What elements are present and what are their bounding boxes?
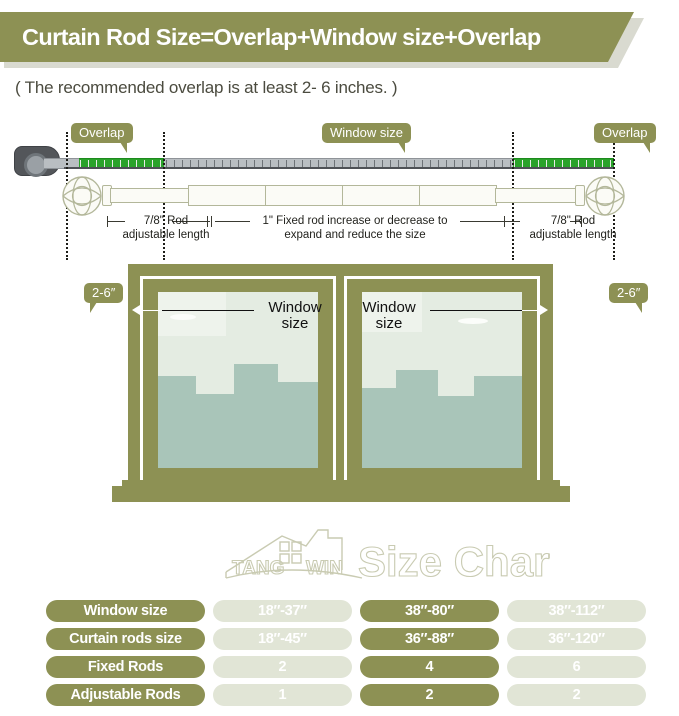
callout-tail [90, 302, 97, 313]
glass-building [396, 370, 438, 468]
rod-fixed-segment-1 [188, 185, 266, 206]
annotation-left-rod-line2: adjustable length [123, 229, 210, 241]
glass-building [438, 396, 474, 468]
callout-window-size: Window size [322, 123, 411, 143]
table-cell: 2 [507, 684, 646, 706]
table-cell: 1 [213, 684, 352, 706]
glass-building [278, 382, 318, 468]
dim-line [215, 221, 250, 222]
badge-overlap-right-label: 2-6″ [617, 285, 640, 300]
rod-finial-right-icon [583, 174, 627, 218]
annotation-center-rod-line1: 1" Fixed rod increase or decrease to [263, 215, 448, 227]
glass-cloud [458, 318, 488, 324]
rod-fixed-segment-4 [419, 185, 497, 206]
leader-line-right [430, 310, 522, 311]
page-title: Curtain Rod Size=Overlap+Window size+Ove… [22, 12, 541, 62]
title-banner: Curtain Rod Size=Overlap+Window size+Ove… [0, 12, 640, 62]
logo-brand-left: TANG [232, 558, 284, 579]
callout-tail [643, 142, 650, 153]
callout-tail [635, 302, 642, 313]
callout-window-size-label: Window size [330, 125, 403, 140]
table-cell: 18″-37″ [213, 600, 352, 622]
label-window-size-right-line2: size [376, 315, 403, 332]
brand-logo: TANG WIN Size Chart [210, 524, 550, 586]
badge-overlap-left-label: 2-6″ [92, 285, 115, 300]
callout-overlap-right-label: Overlap [602, 125, 648, 140]
annotation-right-rod: 7/8" Rod adjustable length [508, 214, 638, 242]
rod-fixed-segment-3 [342, 185, 420, 206]
table-row: Adjustable Rods 1 2 2 [46, 684, 646, 706]
rod-adjustable-left [110, 188, 190, 203]
table-cell: 18″-45″ [213, 628, 352, 650]
tape-ticks-center [166, 160, 511, 167]
callout-tail [398, 142, 405, 153]
logo-heading: Size Chart [358, 538, 550, 585]
leader-line-left [162, 310, 254, 311]
rod-diagram: Overlap Window size Overlap [0, 110, 679, 260]
badge-overlap-left: 2-6″ [84, 283, 123, 303]
rod-finial-left-icon [60, 174, 104, 218]
table-row-header: Fixed Rods [46, 656, 205, 678]
table-row: Curtain rods size 18″-45″ 36″-88″ 36″-12… [46, 628, 646, 650]
glass-building [474, 376, 522, 468]
table-cell: 38″-112″ [507, 600, 646, 622]
glass-building [196, 394, 234, 468]
logo-brand-right: WIN [306, 558, 343, 579]
window-illustration: 2-6″ 2-6″ Window size Win [0, 258, 679, 518]
table-row: Window size 18″-37″ 38″-80″ 38″-112″ [46, 600, 646, 622]
dim-line [460, 221, 505, 222]
badge-overlap-right: 2-6″ [609, 283, 648, 303]
callout-tail [120, 142, 127, 153]
table-row: Fixed Rods 2 4 6 [46, 656, 646, 678]
callout-overlap-left-label: Overlap [79, 125, 125, 140]
table-row-header: Curtain rods size [46, 628, 205, 650]
annotation-right-rod-line1: 7/8" Rod [551, 215, 595, 227]
table-cell: 2 [360, 684, 499, 706]
table-row-header: Window size [46, 600, 205, 622]
tape-ticks-left [80, 160, 163, 167]
table-cell: 36″-120″ [507, 628, 646, 650]
rod-fixed-segment-2 [265, 185, 343, 206]
label-window-size-right: Window size [350, 300, 428, 332]
annotation-right-rod-line2: adjustable length [530, 229, 617, 241]
window-sill [112, 486, 570, 502]
glass-cloud [170, 314, 196, 320]
table-cell: 38″-80″ [360, 600, 499, 622]
table-cell: 36″-88″ [360, 628, 499, 650]
glass-building [234, 364, 278, 468]
annotation-center-rod-line2: expand and reduce the size [284, 229, 425, 241]
subtitle-note: ( The recommended overlap is at least 2-… [15, 78, 397, 98]
measure-arrow-line-left [140, 310, 160, 311]
label-window-size-left-line1: Window [268, 299, 321, 316]
measure-arrow-riser-right [538, 276, 540, 312]
size-chart-table: Window size 18″-37″ 38″-80″ 38″-112″ Cur… [46, 600, 646, 712]
measure-arrowhead-right [540, 305, 548, 315]
glass-building [158, 376, 196, 468]
label-window-size-right-line1: Window [362, 299, 415, 316]
callout-overlap-right: Overlap [594, 123, 656, 143]
annotation-left-rod: 7/8" Rod adjustable length [96, 214, 236, 242]
rod-adjustable-right [495, 188, 577, 203]
annotation-center-rod: 1" Fixed rod increase or decrease to exp… [250, 214, 460, 242]
annotation-left-rod-line1: 7/8" Rod [144, 215, 188, 227]
label-window-size-left-line2: size [282, 315, 309, 332]
table-cell: 4 [360, 656, 499, 678]
table-cell: 6 [507, 656, 646, 678]
tape-ticks-right [514, 160, 613, 167]
table-cell: 2 [213, 656, 352, 678]
label-window-size-left: Window size [256, 300, 334, 332]
callout-overlap-left: Overlap [71, 123, 133, 143]
table-row-header: Adjustable Rods [46, 684, 205, 706]
glass-building [362, 388, 396, 468]
measure-arrowhead-left [132, 305, 140, 315]
measure-arrow-riser-left [140, 276, 142, 312]
